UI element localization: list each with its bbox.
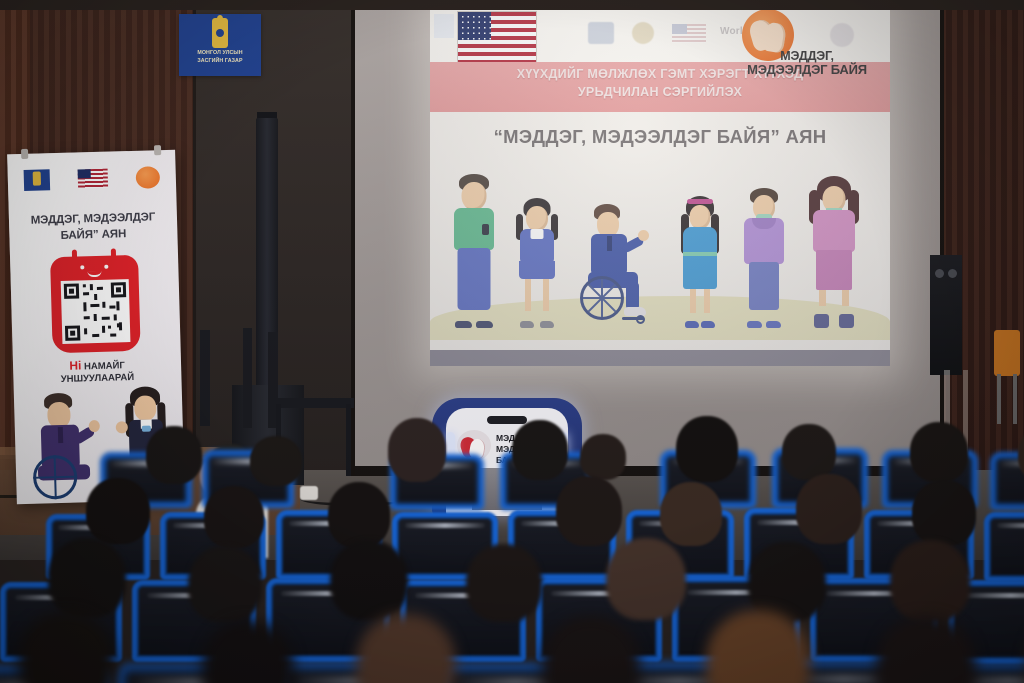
banner-hook-right bbox=[154, 145, 161, 155]
campaign-wordmark-line2: МЭДЭЭЛДЭГ БАЙЯ bbox=[732, 63, 882, 77]
camera-equipment bbox=[930, 255, 962, 375]
ceiling-shadow-band bbox=[0, 0, 1024, 10]
phone-notch-icon bbox=[487, 416, 527, 424]
attendee-head bbox=[890, 540, 970, 622]
character-schoolgirl-uniform bbox=[514, 198, 560, 326]
attendee-head bbox=[912, 480, 976, 546]
campaign-wordmark: МЭДДЭГ, МЭДЭЭЛДЭГ БАЙЯ bbox=[732, 50, 882, 77]
attendee-head bbox=[388, 418, 446, 482]
character-boy-in-wheelchair bbox=[578, 204, 656, 326]
attendee-head bbox=[330, 540, 408, 620]
gov-logo-line2: ЗАСГИЙН ГАЗАР bbox=[179, 58, 261, 66]
conference-hall-photo: World Vision АНУ-ын Засгийн газрын буцал… bbox=[0, 0, 1024, 683]
banner-logo-row bbox=[22, 166, 167, 194]
us-flag-icon bbox=[78, 169, 109, 189]
slide-bottom-bar bbox=[430, 350, 890, 366]
seat[interactable] bbox=[984, 512, 1024, 582]
qr-label-line1: НАМАЙГ bbox=[84, 360, 125, 372]
qr-call-to-action: Hi НАМАЙГ УНШУУЛААРАЙ bbox=[27, 356, 168, 387]
character-woman-in-pink bbox=[808, 176, 860, 326]
seal-logo-icon bbox=[632, 22, 654, 44]
soyombo-icon bbox=[212, 18, 228, 48]
projected-slide: World Vision АНУ-ын Засгийн газрын буцал… bbox=[430, 4, 890, 366]
attendee-head bbox=[910, 422, 968, 482]
attendee-head bbox=[660, 482, 722, 546]
stacked-chair-back-2 bbox=[243, 328, 252, 428]
attendee-head bbox=[48, 538, 126, 618]
character-adult-man-with-phone bbox=[448, 174, 500, 326]
campaign-hands-icon bbox=[136, 166, 161, 189]
attendee-head bbox=[796, 474, 862, 544]
attendee-head bbox=[606, 538, 686, 620]
slide-illustration bbox=[430, 164, 890, 354]
audience-area bbox=[0, 430, 1024, 683]
character-girl-in-blue-dress bbox=[678, 196, 722, 326]
stacked-chair-back-1 bbox=[200, 330, 210, 426]
attendee-head bbox=[580, 434, 626, 480]
attendee-head bbox=[466, 544, 542, 622]
banner-hook-left bbox=[21, 149, 28, 159]
slide-banner-line2: УРЬДЧИЛАН СЭРГИЙЛЭХ bbox=[430, 83, 890, 101]
slide-title: “МЭДДЭГ, МЭДЭЭЛДЭГ БАЙЯ” АЯН bbox=[430, 126, 890, 148]
qr-code-block bbox=[50, 255, 141, 353]
partner-seal-logo-icon bbox=[830, 23, 854, 47]
attendee-head bbox=[676, 416, 738, 482]
attendee-head bbox=[512, 420, 568, 480]
hi-label: Hi bbox=[69, 358, 81, 372]
us-flag-small-icon bbox=[672, 24, 706, 43]
attendee-head bbox=[188, 546, 262, 622]
attendee-head bbox=[782, 424, 836, 480]
mongolia-government-logo: МОНГОЛ УЛСЫН ЗАСГИЙН ГАЗАР bbox=[179, 14, 261, 76]
usaid-logo-icon bbox=[434, 14, 454, 38]
mongolia-emblem-icon bbox=[24, 169, 51, 191]
wheelchair-wheel bbox=[580, 276, 624, 320]
gov-logo-line1: МОНГОЛ УЛСЫН bbox=[179, 50, 261, 58]
attendee-head bbox=[556, 476, 622, 546]
attendee-head bbox=[328, 482, 390, 548]
attendee-head bbox=[250, 436, 302, 486]
orange-chair bbox=[994, 330, 1020, 376]
qr-code-icon bbox=[61, 279, 131, 344]
attendee-head bbox=[86, 478, 150, 544]
us-flag-icon bbox=[458, 12, 536, 64]
attendee-head bbox=[204, 486, 264, 548]
banner-title: МЭДДЭГ, МЭДЭЭЛДЭГ БАЙЯ” АЯН bbox=[9, 210, 178, 246]
attendee-head bbox=[146, 426, 202, 484]
character-teen-boy-hoodie bbox=[740, 188, 788, 326]
mongolia-emblem-logo-icon bbox=[588, 22, 614, 44]
